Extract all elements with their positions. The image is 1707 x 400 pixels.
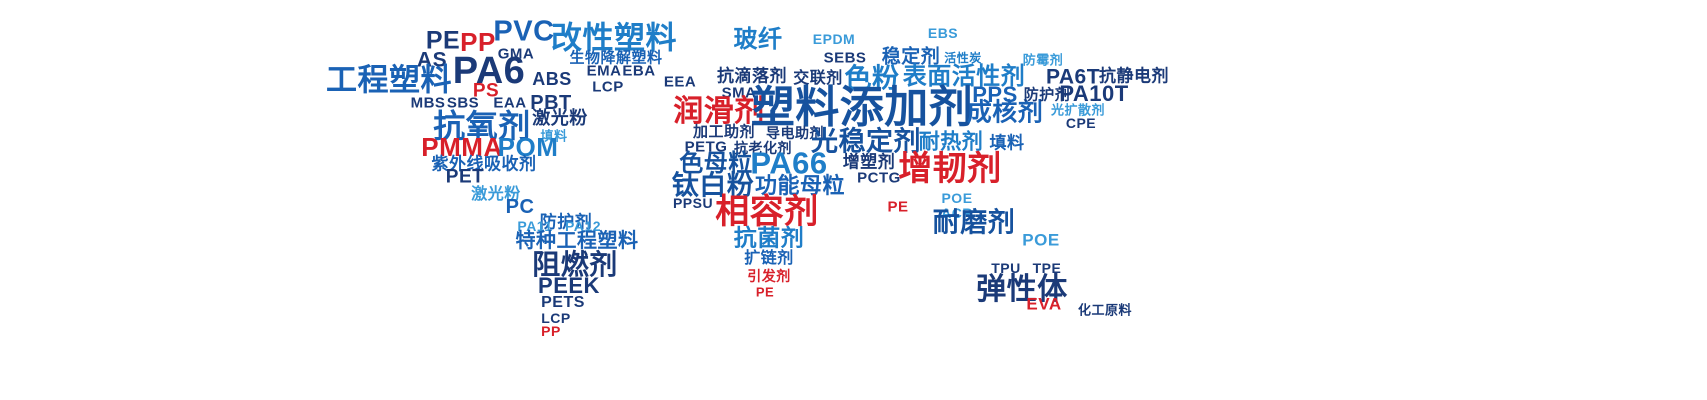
word-cloud-term[interactable]: PP xyxy=(541,324,561,338)
word-cloud-term[interactable]: EBA xyxy=(622,64,655,79)
word-cloud-term[interactable]: PCTG xyxy=(857,171,901,186)
word-cloud-term[interactable]: 填料 xyxy=(990,135,1025,152)
word-cloud-canvas: PEPPPVCGMA改性塑料生物降解塑料玻纤EPDMEBSASPA6ABSEMA… xyxy=(0,0,1707,400)
word-cloud-term[interactable]: EMA xyxy=(587,64,622,79)
word-cloud-term[interactable]: 特种工程塑料 xyxy=(516,231,639,251)
word-cloud-term[interactable]: PET xyxy=(446,168,484,187)
word-cloud-term[interactable]: 激光粉 xyxy=(532,109,588,127)
word-cloud-term[interactable]: EPDM xyxy=(813,32,855,46)
word-cloud-term[interactable]: 耐磨剂 xyxy=(933,210,1016,237)
word-cloud-term[interactable]: PE xyxy=(756,286,774,299)
word-cloud-term[interactable]: PPSU xyxy=(673,196,713,210)
word-cloud-term[interactable]: PE xyxy=(887,200,908,215)
word-cloud-term[interactable]: 工程塑料 xyxy=(326,65,452,96)
word-cloud-term[interactable]: 化工原料 xyxy=(1078,304,1132,317)
word-cloud-term[interactable]: EEA xyxy=(664,75,696,90)
word-cloud-term[interactable]: 塑料添加剂 xyxy=(751,86,974,130)
word-cloud-term[interactable]: 成核剂 xyxy=(967,101,1044,126)
word-cloud-term[interactable]: 引发剂 xyxy=(747,269,791,283)
word-cloud-term[interactable]: 增韧剂 xyxy=(898,152,1002,186)
word-cloud-term[interactable]: PC xyxy=(506,197,535,217)
word-cloud-term[interactable]: 扩链剂 xyxy=(744,251,794,267)
word-cloud-term[interactable]: 玻纤 xyxy=(734,28,783,52)
word-cloud-term[interactable]: EBS xyxy=(928,26,958,40)
word-cloud-term[interactable]: 抗菌剂 xyxy=(734,227,805,250)
word-cloud-term[interactable]: 增塑剂 xyxy=(843,154,896,171)
word-cloud-term[interactable]: EVA xyxy=(1026,296,1061,313)
word-cloud-term[interactable]: LCP xyxy=(592,80,624,95)
word-cloud-term[interactable]: POE xyxy=(941,191,972,205)
word-cloud-term[interactable]: PETS xyxy=(541,295,585,311)
word-cloud-term[interactable]: 加工助剂 xyxy=(693,125,755,140)
word-cloud-term[interactable]: 抗滴落剂 xyxy=(717,68,787,85)
word-cloud-term[interactable]: ABS xyxy=(532,70,572,88)
word-cloud-term[interactable]: CPE xyxy=(1066,116,1096,130)
word-cloud-term[interactable]: PVC xyxy=(493,18,554,47)
word-cloud-term[interactable]: POE xyxy=(1022,232,1059,249)
